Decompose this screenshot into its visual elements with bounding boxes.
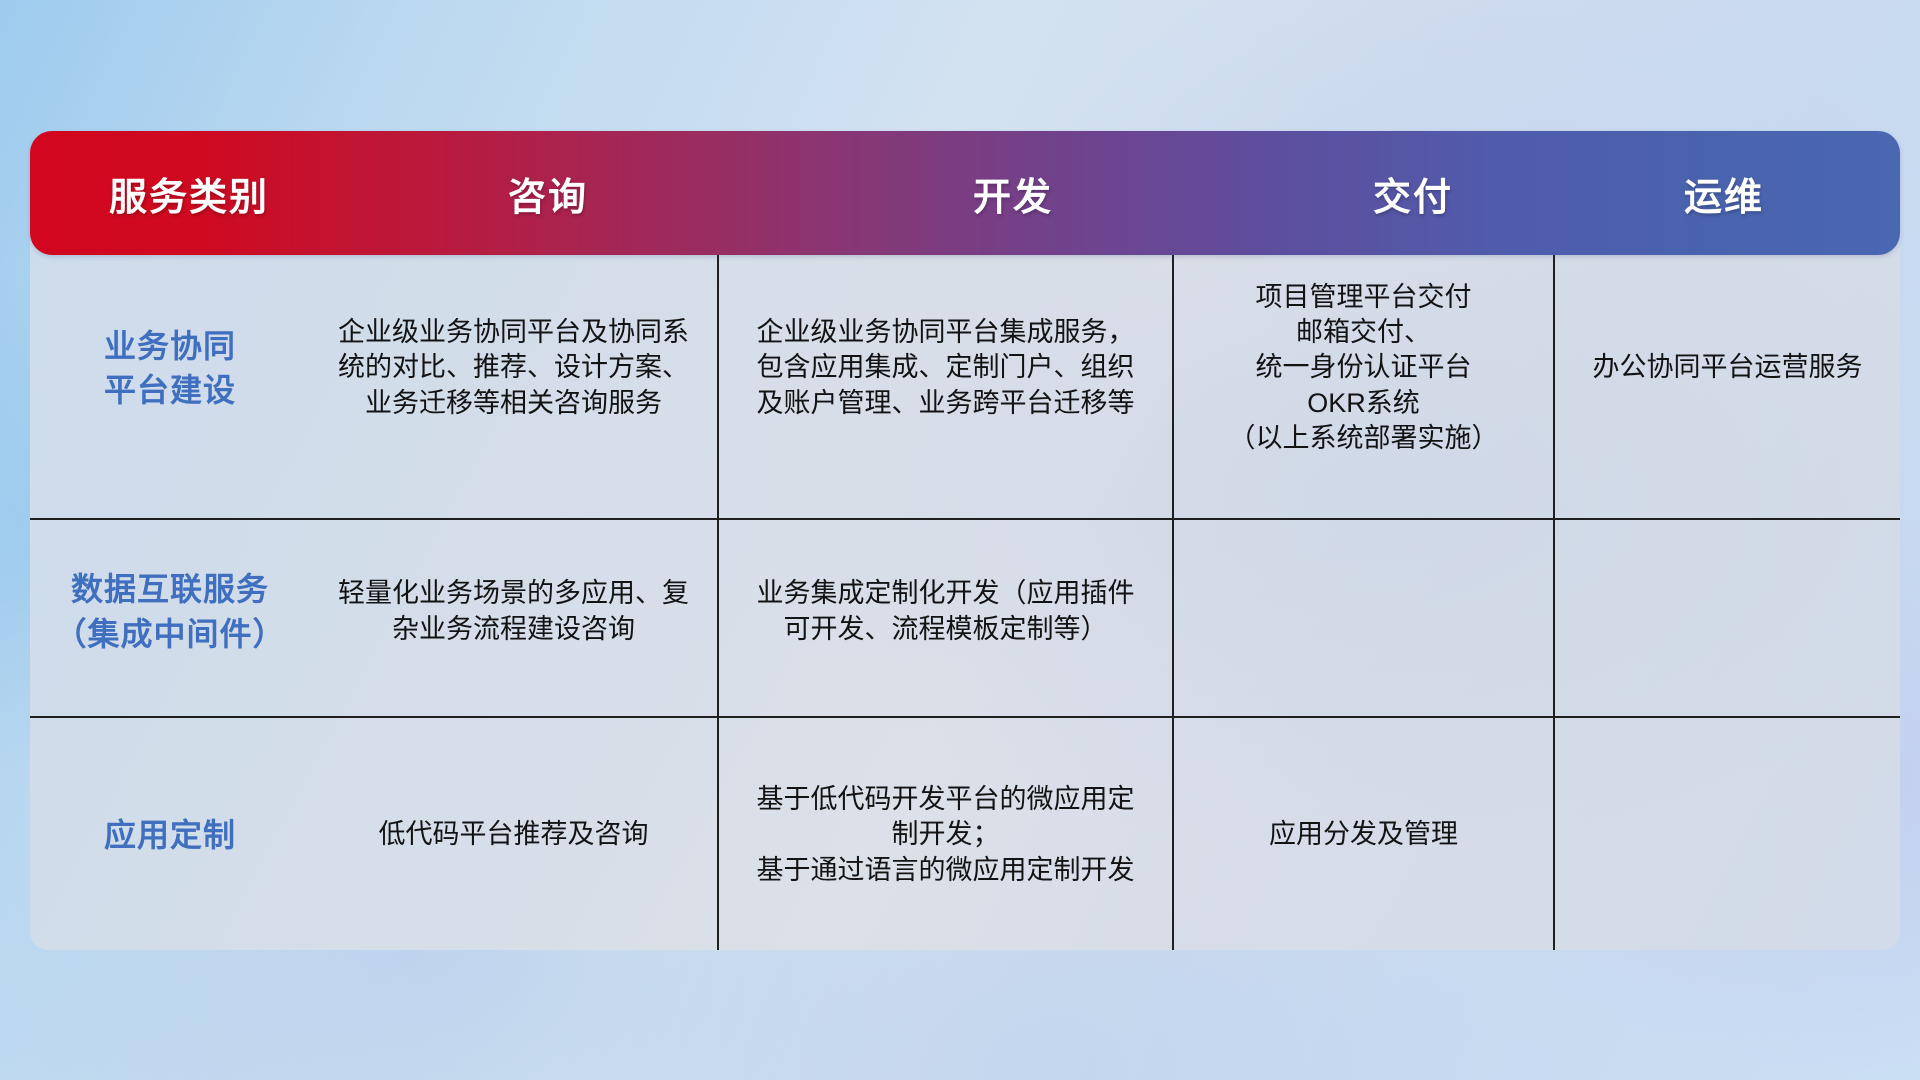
column-divider-consulting-development xyxy=(717,255,719,950)
cell-development-row-1: 企业级业务协同平台集成服务， 包含应用集成、定制门户、组织 及账户管理、业务跨平… xyxy=(719,255,1172,481)
header-label-delivery: 交付 xyxy=(1373,166,1453,221)
row-divider-2 xyxy=(30,716,1900,718)
cell-delivery-row-1: 项目管理平台交付 邮箱交付、 统一身份认证平台 OKR系统 （以上系统部署实施） xyxy=(1174,255,1553,481)
header-cell-group: 服务类别 咨询 开发 交付 运维 xyxy=(30,131,1900,255)
table-row: 数据互联服务 （集成中间件） 轻量化业务场景的多应用、复 杂业务流程建设咨询 业… xyxy=(30,518,1900,703)
header-cell-delivery: 交付 xyxy=(1278,131,1548,255)
cell-consulting-row-3: 低代码平台推荐及咨询 xyxy=(310,718,717,950)
cell-delivery-row-2 xyxy=(1174,520,1553,703)
cell-consulting-row-2: 轻量化业务场景的多应用、复 杂业务流程建设咨询 xyxy=(310,520,717,703)
header-label-operations: 运维 xyxy=(1684,166,1764,221)
table-header-bar: 服务类别 咨询 开发 交付 运维 xyxy=(30,131,1900,255)
row-divider-1 xyxy=(30,518,1900,520)
header-label-consulting: 咨询 xyxy=(508,166,588,221)
header-cell-service-category: 服务类别 xyxy=(30,131,348,255)
cell-operations-row-3 xyxy=(1555,718,1900,950)
slide-canvas: 服务类别 咨询 开发 交付 运维 业务协同 平台建设 企业级业务协同平台及协同系 xyxy=(0,0,1920,1080)
header-cell-development: 开发 xyxy=(748,131,1278,255)
column-divider-development-delivery xyxy=(1172,255,1174,950)
header-label-development: 开发 xyxy=(973,166,1053,221)
cell-delivery-row-3: 应用分发及管理 xyxy=(1174,718,1553,950)
header-label-service-category: 服务类别 xyxy=(109,166,269,221)
table-body: 业务协同 平台建设 企业级业务协同平台及协同系 统的对比、推荐、设计方案、 业务… xyxy=(30,215,1900,950)
table-row: 应用定制 低代码平台推荐及咨询 基于低代码开发平台的微应用定 制开发； 基于通过… xyxy=(30,716,1900,950)
row-label-business-collaboration: 业务协同 平台建设 xyxy=(30,255,310,481)
cell-operations-row-2 xyxy=(1555,520,1900,703)
cell-development-row-3: 基于低代码开发平台的微应用定 制开发； 基于通过语言的微应用定制开发 xyxy=(719,718,1172,950)
cell-operations-row-1: 办公协同平台运营服务 xyxy=(1555,255,1900,481)
table-row: 业务协同 平台建设 企业级业务协同平台及协同系 统的对比、推荐、设计方案、 业务… xyxy=(30,255,1900,481)
cell-development-row-2: 业务集成定制化开发（应用插件 可开发、流程模板定制等） xyxy=(719,520,1172,703)
header-cell-consulting: 咨询 xyxy=(348,131,748,255)
cell-consulting-row-1: 企业级业务协同平台及协同系 统的对比、推荐、设计方案、 业务迁移等相关咨询服务 xyxy=(310,255,717,481)
header-cell-operations: 运维 xyxy=(1548,131,1900,255)
row-label-data-interconnect: 数据互联服务 （集成中间件） xyxy=(30,520,310,703)
column-divider-delivery-operations xyxy=(1553,255,1555,950)
row-label-app-customization: 应用定制 xyxy=(30,718,310,950)
